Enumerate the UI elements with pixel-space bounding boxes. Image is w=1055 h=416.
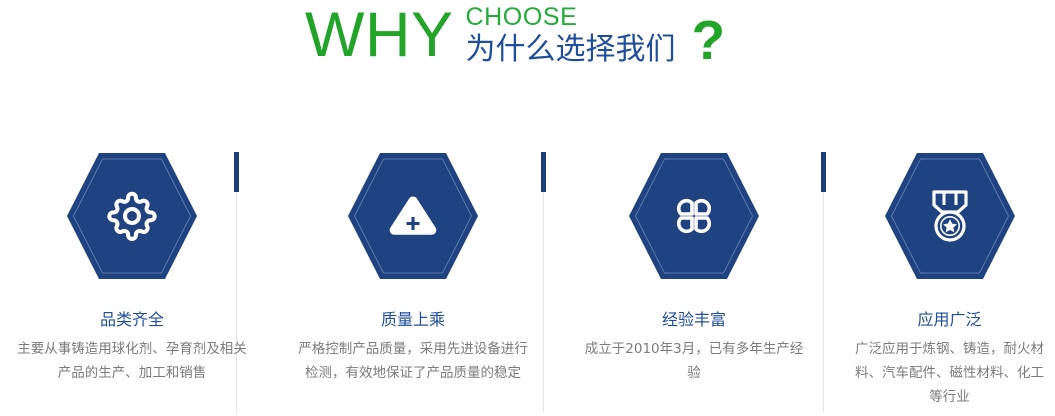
hexagon-badge — [347, 151, 479, 281]
hexagon-badge — [884, 151, 1016, 281]
gear-icon — [66, 151, 198, 281]
four-petal-clover-icon — [628, 151, 760, 281]
feature-description: 主要从事铸造用球化剂、孕育剂及相关产品的生产、加工和销售 — [17, 337, 247, 385]
feature-title: 经验丰富 — [662, 309, 726, 331]
feature-title: 应用广泛 — [917, 309, 981, 331]
feature-column-3[interactable]: 经验丰富 成立于2010年3月，已有多年生产经验 — [562, 140, 826, 416]
medal-icon — [884, 151, 1016, 281]
feature-column-2[interactable]: 质量上乘 严格控制产品质量，采用先进设备进行检测，有效地保证了产品质量的稳定 — [281, 140, 545, 416]
triangle-plus-icon — [347, 151, 479, 281]
feature-description: 成立于2010年3月，已有多年生产经验 — [579, 337, 809, 385]
why-choose-us-section: WHY CHOOSE 为什么选择我们 ? — [0, 0, 1055, 416]
heading-choose-word: CHOOSE — [465, 4, 675, 31]
feature-column-4[interactable]: 应用广泛 广泛应用于炼钢、铸造，耐火材料、汽车配件、磁性材料、化工等行业 — [844, 140, 1055, 416]
feature-description: 严格控制产品质量，采用先进设备进行检测，有效地保证了产品质量的稳定 — [298, 337, 528, 385]
feature-title: 质量上乘 — [381, 309, 445, 331]
heading-question-mark: ? — [691, 10, 725, 70]
hexagon-badge — [628, 151, 760, 281]
feature-description: 广泛应用于炼钢、铸造，耐火材料、汽车配件、磁性材料、化工等行业 — [850, 337, 1050, 409]
heading-why-word: WHY — [305, 2, 453, 68]
feature-title: 品类齐全 — [100, 309, 164, 331]
feature-column-1[interactable]: 品类齐全 主要从事铸造用球化剂、孕育剂及相关产品的生产、加工和销售 — [0, 140, 264, 416]
feature-columns: 品类齐全 主要从事铸造用球化剂、孕育剂及相关产品的生产、加工和销售 — [0, 140, 1055, 416]
heading-subtitle-chinese: 为什么选择我们 — [465, 32, 675, 68]
hexagon-badge — [66, 151, 198, 281]
section-heading: WHY CHOOSE 为什么选择我们 ? — [0, 0, 1055, 95]
